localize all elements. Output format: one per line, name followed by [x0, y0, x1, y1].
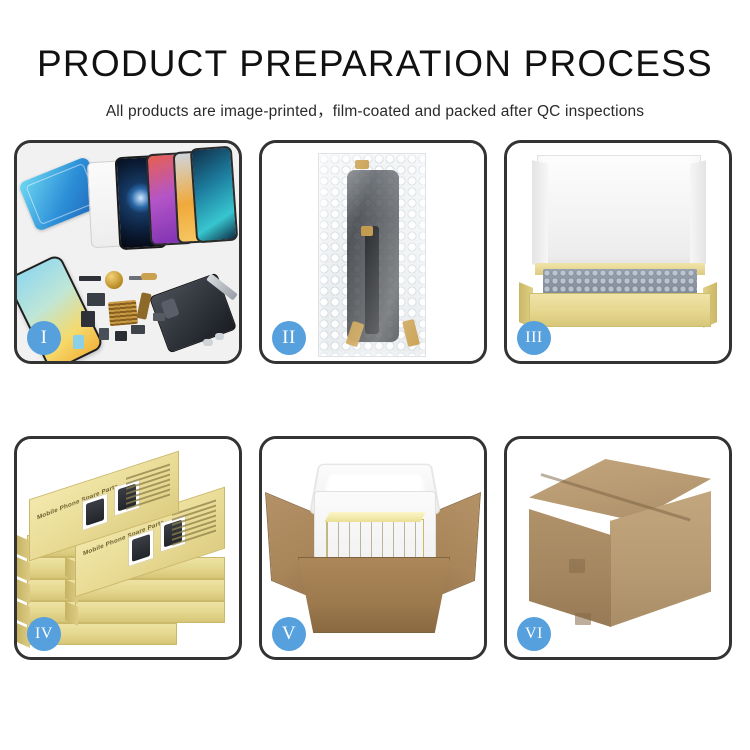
- small-part: [131, 325, 145, 334]
- small-part: [81, 311, 95, 327]
- step-panel-4[interactable]: Mobile Phone Spare Parts Mobile Phone Sp…: [14, 436, 242, 660]
- step-badge-1: I: [27, 321, 61, 355]
- step-badge-3: III: [517, 321, 551, 355]
- step-badge-5: V: [272, 617, 306, 651]
- step-panel-2[interactable]: II: [259, 140, 487, 364]
- phone-display-teal: [190, 146, 239, 244]
- screw: [215, 333, 224, 340]
- screw: [203, 339, 213, 346]
- small-part: [73, 335, 84, 349]
- carton-tape-patch: [575, 613, 591, 625]
- box-spec-lines: [126, 464, 170, 514]
- step-badge-2: II: [272, 321, 306, 355]
- product-preparation-infographic: PRODUCT PREPARATION PROCESS All products…: [0, 0, 750, 750]
- step-panel-5[interactable]: V: [259, 436, 487, 660]
- flex-cable: [136, 292, 151, 320]
- process-steps-grid: I II: [14, 140, 736, 675]
- step-badge-4: IV: [27, 617, 61, 651]
- connector-tape: [402, 319, 420, 347]
- bubble-wrap-bag: [318, 153, 426, 357]
- flex-cable: [365, 226, 379, 334]
- small-part: [79, 276, 101, 281]
- connector-tape: [361, 226, 373, 236]
- step-panel-1[interactable]: I: [14, 140, 242, 364]
- speaker-module: [105, 271, 123, 289]
- step-badge-6: VI: [517, 617, 551, 651]
- page-title: PRODUCT PREPARATION PROCESS: [0, 0, 750, 82]
- box-side: [17, 601, 30, 626]
- logic-board-chip: [108, 300, 138, 326]
- carton-body: [298, 557, 450, 633]
- box-side: [17, 579, 30, 604]
- mailer-box-front: [529, 293, 711, 327]
- header: PRODUCT PREPARATION PROCESS All products…: [0, 0, 750, 121]
- step-panel-3[interactable]: III: [504, 140, 732, 364]
- small-part: [99, 328, 109, 340]
- step-panel-6[interactable]: VI: [504, 436, 732, 660]
- small-part: [87, 293, 105, 306]
- connector-tape: [355, 160, 369, 169]
- stacked-box-edge: [75, 601, 225, 623]
- mailer-box-lid: [537, 155, 701, 271]
- small-part: [115, 331, 127, 341]
- small-part: [153, 313, 165, 321]
- carton-tape-patch: [569, 559, 585, 573]
- small-part: [141, 273, 157, 280]
- page-subtitle: All products are image-printed，film-coat…: [0, 82, 750, 121]
